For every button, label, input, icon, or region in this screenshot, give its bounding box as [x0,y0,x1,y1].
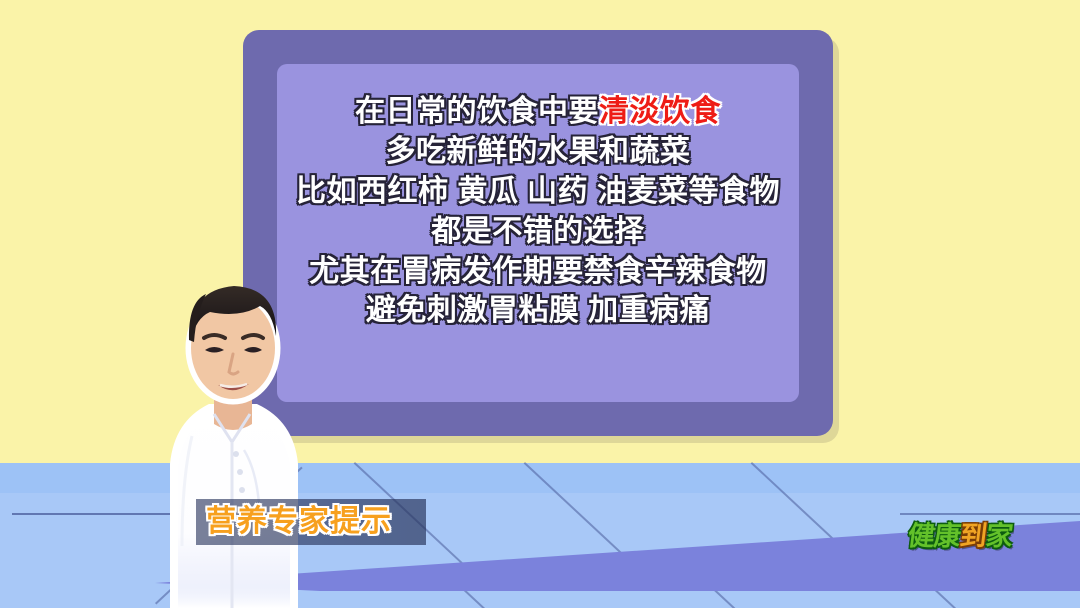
board-line-3: 比如西红柿 黄瓜 山药 油麦菜等食物 [243,172,833,212]
board-line-1-highlight: 清淡饮食 [599,95,721,128]
board-line-2: 多吃新鲜的水果和蔬菜 [243,132,833,172]
channel-logo-part3: 家 [984,521,1014,551]
board-line-1: 在日常的饮食中要清淡饮食 [243,92,833,132]
board-line-4: 都是不错的选择 [243,212,833,252]
channel-logo: 健康到家 [906,516,1031,556]
video-frame: 在日常的饮食中要清淡饮食 多吃新鲜的水果和蔬菜 比如西红柿 黄瓜 山药 油麦菜等… [0,0,1080,608]
board-text-block: 在日常的饮食中要清淡饮食 多吃新鲜的水果和蔬菜 比如西红柿 黄瓜 山药 油麦菜等… [243,92,833,331]
presentation-board: 在日常的饮食中要清淡饮食 多吃新鲜的水果和蔬菜 比如西红柿 黄瓜 山药 油麦菜等… [243,30,833,436]
board-line-5: 尤其在胃病发作期要禁食辛辣食物 [243,252,833,292]
presenter-figure [148,228,318,608]
board-line-1-text: 在日常的饮食中要 [355,95,599,128]
caption-label: 营养专家提示 [206,501,426,543]
channel-logo-part1: 健康 [906,521,962,551]
floor-line-horizontal-right [900,513,1080,515]
board-line-6: 避免刺激胃粘膜 加重病痛 [243,291,833,331]
channel-logo-part2: 到 [958,521,988,551]
